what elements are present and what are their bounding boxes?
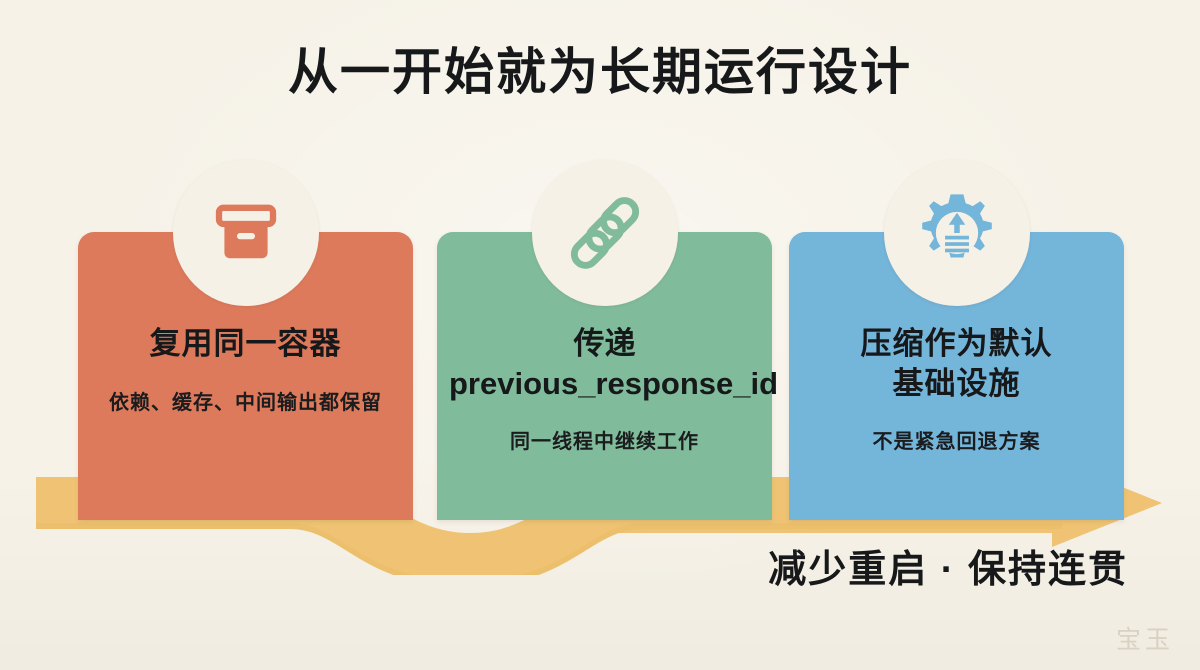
tagline: 减少重启 · 保持连贯 xyxy=(768,538,1128,593)
page-title: 从一开始就为长期运行设计 xyxy=(0,44,1200,100)
card-text-block: 复用同一容器 依赖、缓存、中间输出都保留 xyxy=(78,324,413,416)
infographic-poster: 从一开始就为长期运行设计 复用同一容器 xyxy=(0,0,1200,670)
card-title: 复用同一容器 xyxy=(90,324,401,364)
card-reuse-container[interactable]: 复用同一容器 依赖、缓存、中间输出都保留 xyxy=(78,232,413,520)
card-subtitle: 依赖、缓存、中间输出都保留 xyxy=(90,390,401,416)
card-subtitle: 不是紧急回退方案 xyxy=(801,429,1112,455)
card-title: 传递 previous_response_id xyxy=(449,324,760,403)
card-text-block: 传递 previous_response_id 同一线程中继续工作 xyxy=(437,324,772,455)
card-subtitle: 同一线程中继续工作 xyxy=(449,429,760,455)
card-previous-response-id[interactable]: 传递 previous_response_id 同一线程中继续工作 xyxy=(437,232,772,520)
archive-box-icon xyxy=(173,160,319,306)
watermark: 宝玉 xyxy=(1116,620,1174,656)
gear-compress-icon xyxy=(884,160,1030,306)
card-compaction-default[interactable]: 压缩作为默认 基础设施 不是紧急回退方案 xyxy=(789,232,1124,520)
card-title: 压缩作为默认 基础设施 xyxy=(801,324,1112,403)
chain-link-icon xyxy=(532,160,678,306)
card-text-block: 压缩作为默认 基础设施 不是紧急回退方案 xyxy=(789,324,1124,455)
